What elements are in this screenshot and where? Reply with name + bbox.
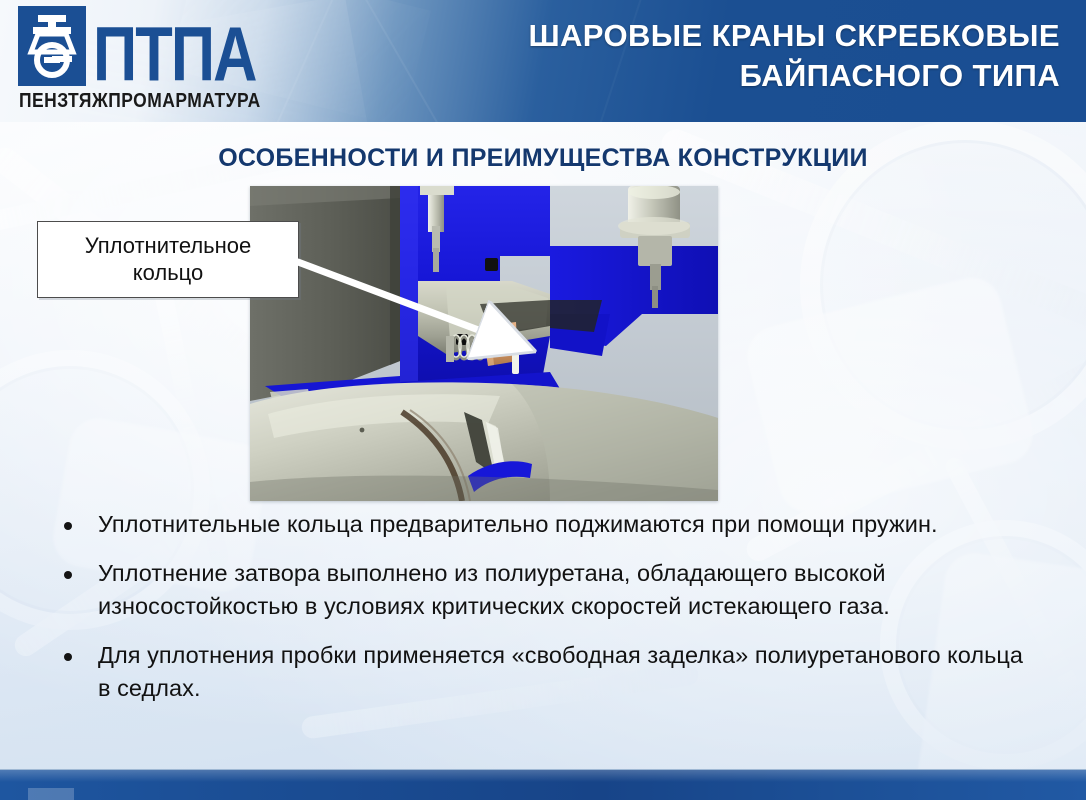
slide: ПТПА ПЕНЗТЯЖПРОМАРМАТУРА ШАРОВЫЕ КРАНЫ С… xyxy=(0,0,1086,800)
section-subtitle: ОСОБЕННОСТИ И ПРЕИМУЩЕСТВА КОНСТРУКЦИИ xyxy=(0,144,1086,173)
callout-line-2: кольцо xyxy=(133,260,204,285)
list-item: Уплотнительные кольца предварительно под… xyxy=(64,508,1032,540)
bullet-text: Уплотнение затвора выполнено из полиурет… xyxy=(98,557,1032,622)
footer-gloss xyxy=(0,770,1086,782)
footer-accent-tab xyxy=(28,788,74,800)
logo-wordmark: ПТПА xyxy=(93,13,256,89)
company-logo[interactable]: ПТПА ПЕНЗТЯЖПРОМАРМАТУРА xyxy=(18,6,268,110)
slide-footer-bar xyxy=(0,769,1086,800)
bullet-dot-icon xyxy=(64,571,72,579)
bullet-text: Уплотнительные кольца предварительно под… xyxy=(98,508,938,540)
bullet-dot-icon xyxy=(64,522,72,530)
slide-title-line-1: ШАРОВЫЕ КРАНЫ СКРЕБКОВЫЕ xyxy=(360,16,1060,56)
callout-seal-ring-label: Уплотнительное кольцо xyxy=(37,221,299,298)
slide-header: ПТПА ПЕНЗТЯЖПРОМАРМАТУРА ШАРОВЫЕ КРАНЫ С… xyxy=(0,0,1086,122)
list-item: Для уплотнения пробки применяется «свобо… xyxy=(64,639,1032,704)
bullet-dot-icon xyxy=(64,653,72,661)
bullet-list: Уплотнительные кольца предварительно под… xyxy=(64,508,1032,704)
bullet-text: Для уплотнения пробки применяется «свобо… xyxy=(98,639,1032,704)
ptpa-valve-emblem-icon xyxy=(18,6,86,86)
valve-cutaway-figure xyxy=(250,186,718,501)
slide-title: ШАРОВЫЕ КРАНЫ СКРЕБКОВЫЕ БАЙПАСНОГО ТИПА xyxy=(360,16,1060,95)
callout-line-1: Уплотнительное xyxy=(85,233,252,258)
slide-title-line-2: БАЙПАСНОГО ТИПА xyxy=(360,56,1060,96)
list-item: Уплотнение затвора выполнено из полиурет… xyxy=(64,557,1032,622)
logo-company-name: ПЕНЗТЯЖПРОМАРМАТУРА xyxy=(19,89,261,113)
